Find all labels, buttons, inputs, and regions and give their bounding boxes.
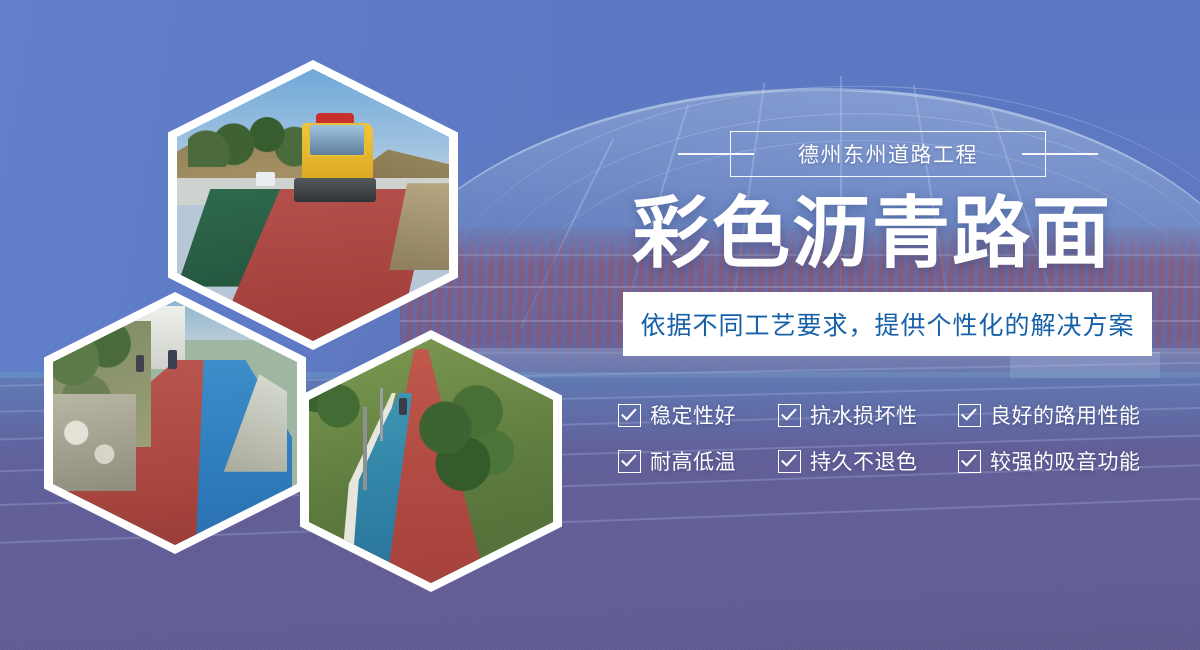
feature-label: 较强的吸音功能: [990, 446, 1141, 476]
banner: 德州东州道路工程 彩色沥青路面 依据不同工艺要求，提供个性化的解决方案 稳定性好…: [0, 0, 1200, 650]
feature-label: 良好的路用性能: [990, 400, 1141, 430]
tagline-label: 德州东州道路工程: [730, 131, 1046, 177]
feature-label: 持久不退色: [810, 446, 918, 476]
check-icon: [958, 404, 981, 427]
feature-item: 良好的路用性能: [958, 392, 1178, 438]
feature-item: 耐高低温: [618, 438, 768, 484]
check-icon: [778, 450, 801, 473]
check-icon: [618, 404, 641, 427]
feature-item: 抗水损坏性: [778, 392, 948, 438]
feature-list: 稳定性好 抗水损坏性 良好的路用性能 耐高低温 持久不退色: [618, 392, 1178, 484]
feature-label: 抗水损坏性: [810, 400, 918, 430]
subtitle-text: 依据不同工艺要求，提供个性化的解决方案: [640, 306, 1134, 342]
brand-tagline: 德州东州道路工程: [678, 131, 1098, 177]
feature-item: 较强的吸音功能: [958, 438, 1178, 484]
check-icon: [778, 404, 801, 427]
check-icon: [618, 450, 641, 473]
feature-label: 耐高低温: [650, 446, 736, 476]
feature-item: 持久不退色: [778, 438, 948, 484]
feature-item: 稳定性好: [618, 392, 768, 438]
subtitle-panel: 依据不同工艺要求，提供个性化的解决方案: [623, 292, 1152, 356]
check-icon: [958, 450, 981, 473]
feature-label: 稳定性好: [650, 400, 736, 430]
page-title: 彩色沥青路面: [632, 188, 1152, 278]
